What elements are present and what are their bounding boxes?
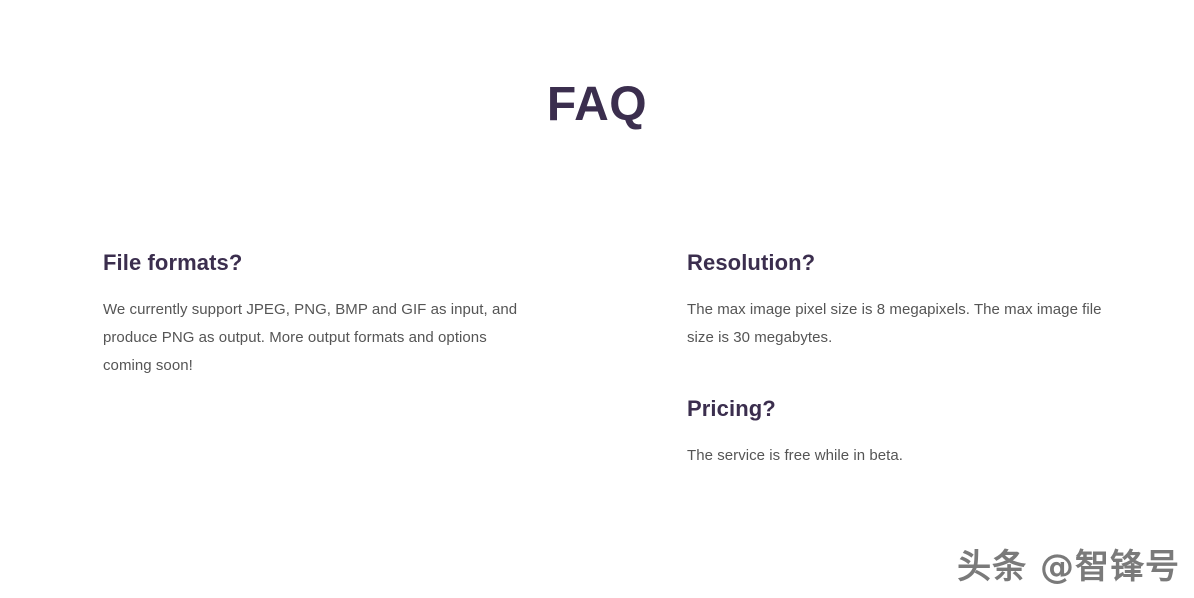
faq-question-pricing: Pricing? (687, 394, 1112, 424)
faq-answer-resolution: The max image pixel size is 8 megapixels… (687, 296, 1112, 352)
faq-question-resolution: Resolution? (687, 248, 1112, 278)
faq-item-file-formats: File formats? We currently support JPEG,… (103, 248, 528, 380)
faq-question-file-formats: File formats? (103, 248, 528, 278)
page-title: FAQ (0, 76, 1194, 134)
faq-page: FAQ File formats? We currently support J… (0, 0, 1194, 598)
faq-item-pricing: Pricing? The service is free while in be… (687, 394, 1112, 470)
faq-answer-file-formats: We currently support JPEG, PNG, BMP and … (103, 296, 528, 380)
faq-answer-pricing: The service is free while in beta. (687, 442, 1112, 470)
faq-column-right: Resolution? The max image pixel size is … (687, 248, 1112, 470)
faq-column-left: File formats? We currently support JPEG,… (103, 248, 528, 380)
faq-item-resolution: Resolution? The max image pixel size is … (687, 248, 1112, 352)
faq-columns: File formats? We currently support JPEG,… (103, 248, 1113, 470)
watermark: 头条 @智锋号 (957, 544, 1180, 590)
